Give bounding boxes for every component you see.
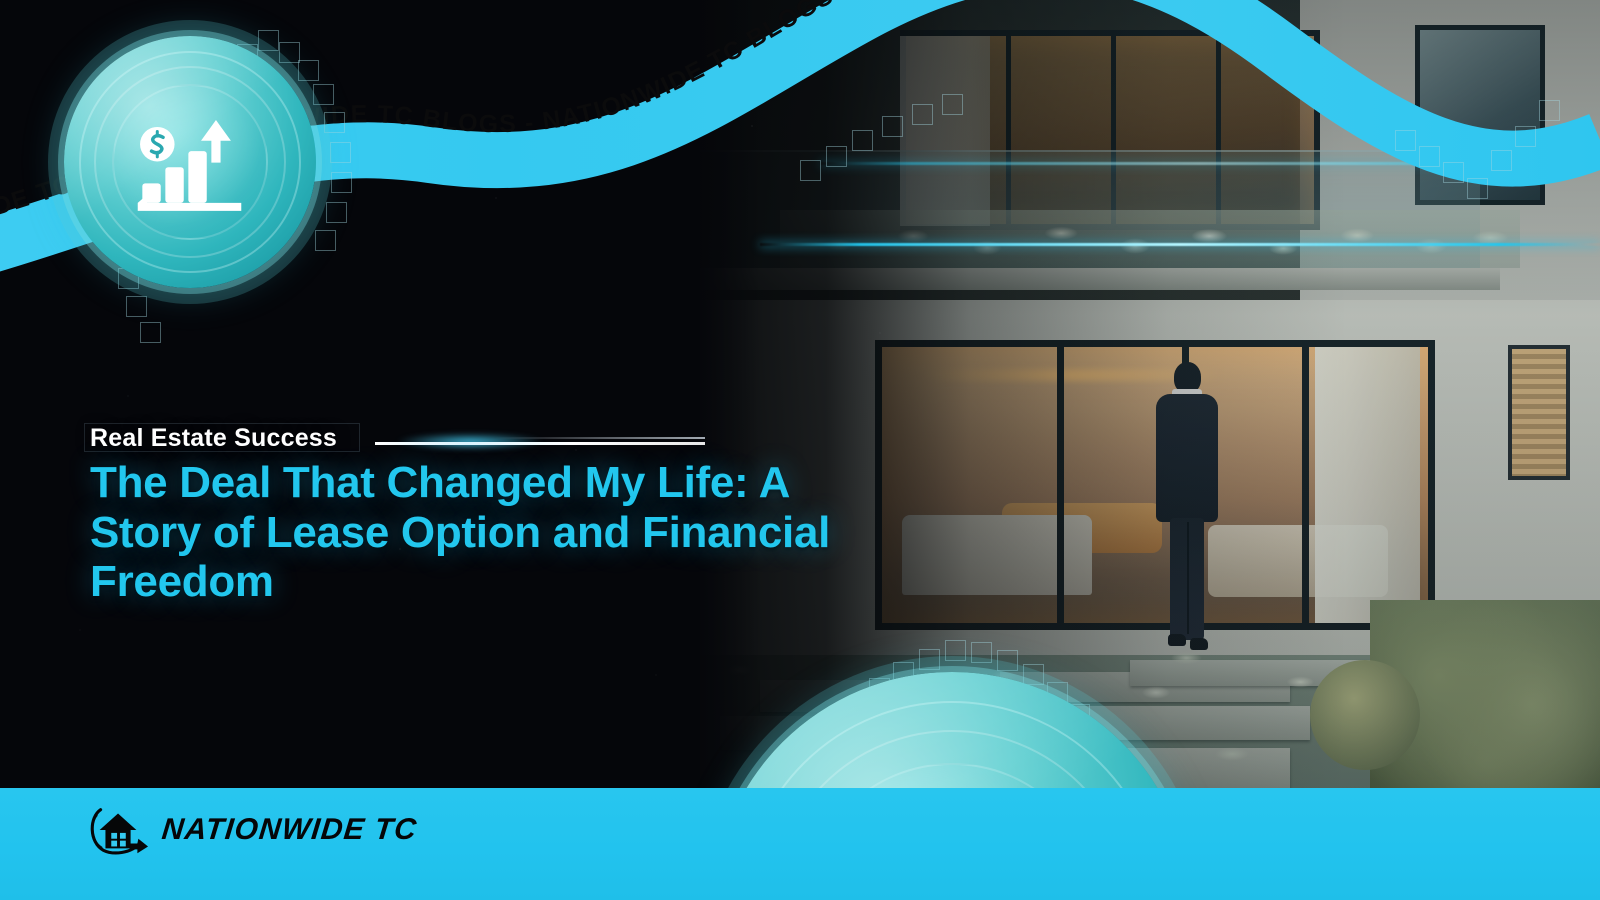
brand-name: NATIONWIDE TC <box>160 813 419 847</box>
cyan-scanline-secondary <box>820 162 1580 165</box>
page-kicker: Real Estate Success <box>90 424 337 453</box>
page-title: The Deal That Changed My Life: A Story o… <box>90 458 860 607</box>
blog-banner: NATIONWIDE TC BLOGS - NATIONWIDE TC BLOG… <box>0 0 1600 900</box>
growth-chart-dollar-icon <box>135 112 251 218</box>
growth-badge-top-left <box>64 36 316 288</box>
brand-logo[interactable]: NATIONWIDE TC <box>88 800 417 860</box>
house-swoosh-icon <box>88 800 150 860</box>
glow-divider <box>375 440 705 446</box>
hero-photo <box>700 0 1600 788</box>
dark-gradient-overlay <box>700 0 1600 788</box>
cyan-scanline <box>760 243 1600 246</box>
